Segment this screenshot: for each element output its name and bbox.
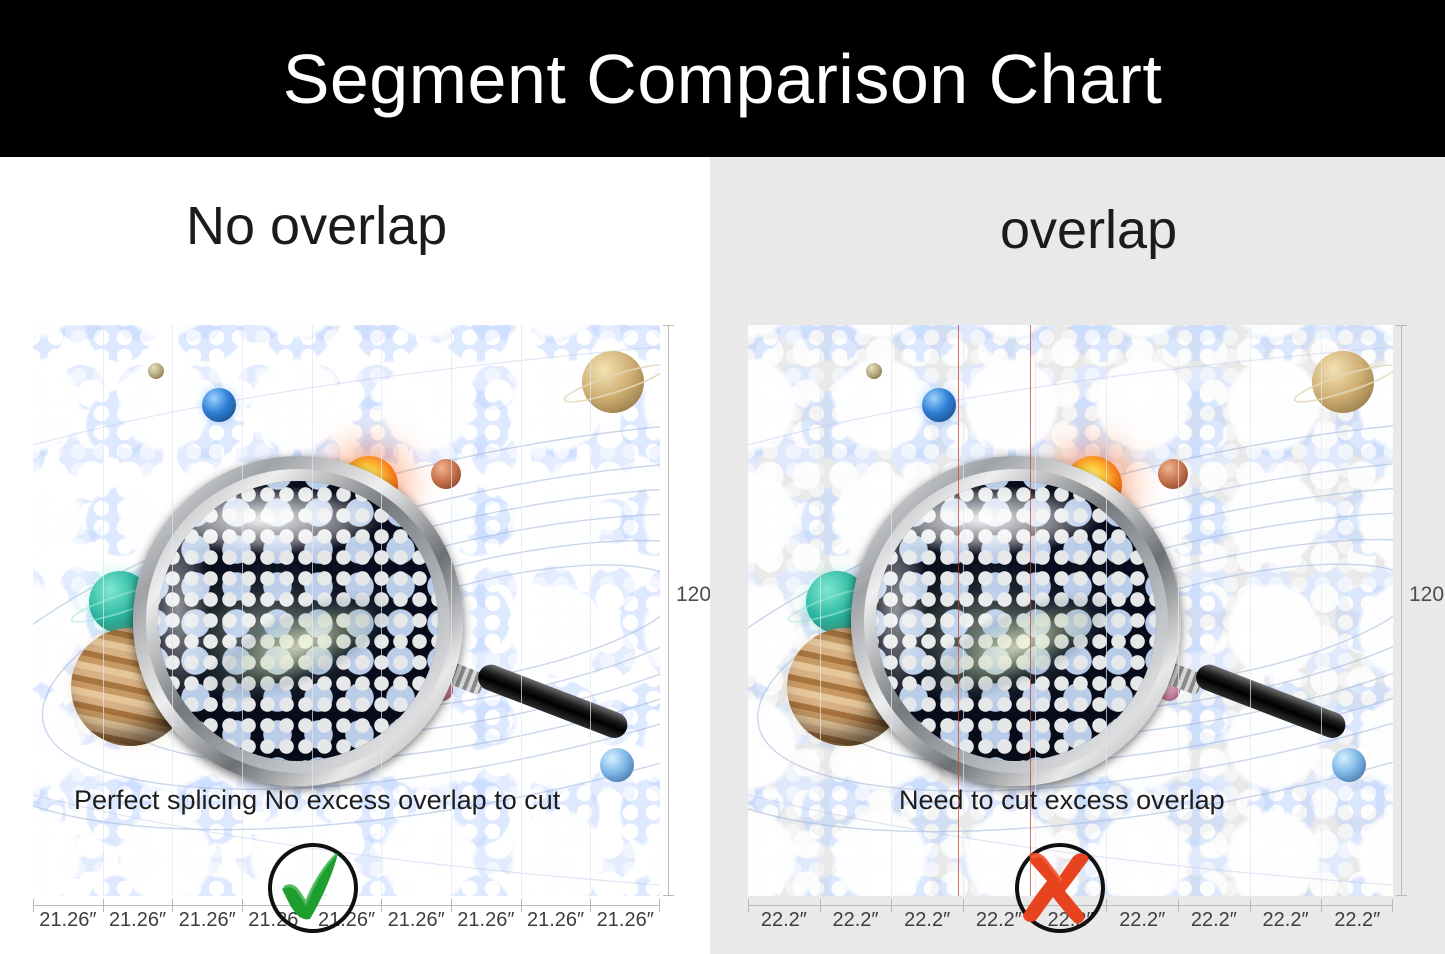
segment-label: 22.2″	[891, 909, 963, 932]
segment-label: 22.2″	[1178, 909, 1250, 932]
segment-label: 22.2″	[820, 909, 892, 932]
segment-label: 21.26″	[590, 909, 660, 932]
segment-label: 21.26″	[451, 909, 521, 932]
dimension-line	[1401, 325, 1402, 896]
segment-label: 21.26″	[103, 909, 173, 932]
cross-mark-icon	[1009, 837, 1105, 933]
segment-label: 22.2″	[1106, 909, 1178, 932]
segment-divider	[590, 325, 591, 896]
dimension-tick-top	[663, 325, 674, 326]
height-dimension-overlap: 120″	[1396, 325, 1445, 896]
panel-heading-no-overlap: No overlap	[186, 195, 447, 257]
check-mark-icon	[262, 837, 358, 933]
comparison-chart-page: Segment Comparison Chart No overlap	[0, 0, 1445, 954]
segment-divider	[1250, 325, 1251, 896]
caption-no-overlap: Perfect splicing No excess overlap to cu…	[74, 785, 560, 816]
panel-heading-overlap: overlap	[1000, 199, 1177, 261]
verdict-check-no-overlap	[262, 837, 358, 933]
panel-overlap: overlap	[710, 157, 1445, 954]
segment-divider	[1321, 325, 1322, 896]
dimension-tick-bottom	[663, 895, 674, 896]
dimension-tick-bottom	[1396, 895, 1407, 896]
panels-container: No overlap	[0, 157, 1445, 954]
segment-label: 22.2″	[1321, 909, 1393, 932]
panel-no-overlap: No overlap	[0, 157, 710, 954]
height-label: 120″	[1409, 583, 1445, 607]
caption-overlap: Need to cut excess overlap	[899, 785, 1225, 816]
segment-label: 21.26″	[33, 909, 103, 932]
segment-label: 21.26″	[521, 909, 591, 932]
dimension-tick-top	[1396, 325, 1407, 326]
segment-divider	[820, 325, 821, 896]
segment-divider	[891, 325, 892, 896]
segment-label: 22.2″	[1250, 909, 1322, 932]
segment-label: 21.26″	[381, 909, 451, 932]
chart-title-bar: Segment Comparison Chart	[0, 0, 1445, 157]
dimension-line	[668, 325, 669, 896]
verdict-cross-overlap	[1009, 837, 1105, 933]
segment-label: 21.26″	[172, 909, 242, 932]
segment-label: 22.2″	[748, 909, 820, 932]
page-title: Segment Comparison Chart	[283, 39, 1163, 119]
